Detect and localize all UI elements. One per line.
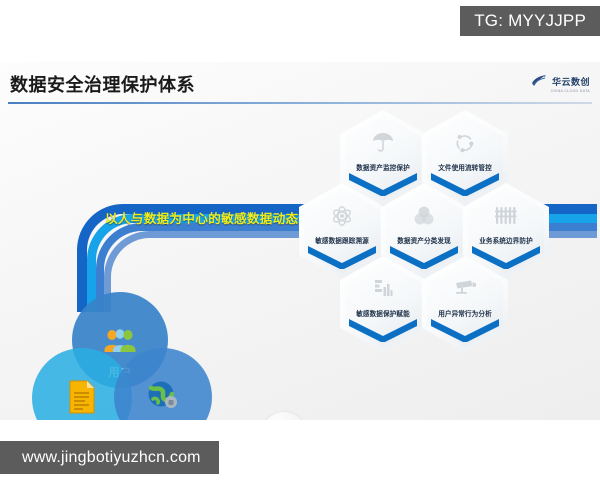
venn-diagram: 用户 数据 <box>26 292 226 420</box>
recycle-flow-icon <box>422 132 508 153</box>
atom-icon <box>299 205 385 227</box>
hex-chevron <box>347 316 419 342</box>
watermark-bottom: www.jingbotiyuzhcn.com <box>0 441 219 474</box>
page-title: 数据安全治理保护体系 <box>10 71 195 97</box>
users-icon <box>103 328 137 359</box>
brand-logo: 华云数创 <box>531 74 590 88</box>
fence-icon <box>463 205 549 225</box>
screenshot-root: TG: MYYJJPP 数据安全治理保护体系 华云数创 CHINA CLOUD … <box>0 0 600 480</box>
logo-mark-icon <box>531 74 549 88</box>
slide-canvas: 数据安全治理保护体系 华云数创 CHINA CLOUD DATA 以人与 <box>0 62 600 420</box>
venn-circles-icon <box>381 205 467 227</box>
chart-bar-icon <box>340 278 426 298</box>
header-divider <box>8 102 592 104</box>
hex-chevron <box>429 316 501 342</box>
watermark-top-text: TG: MYYJJPP <box>474 11 586 31</box>
slide-header: 数据安全治理保护体系 华云数创 CHINA CLOUD DATA <box>0 62 600 104</box>
cctv-camera-icon <box>422 278 508 298</box>
logo-subtext: CHINA CLOUD DATA <box>551 89 590 93</box>
logo-text: 华云数创 <box>552 75 590 88</box>
umbrella-icon <box>340 132 426 152</box>
document-icon <box>68 380 96 419</box>
watermark-top: TG: MYYJJPP <box>460 6 600 36</box>
watermark-bottom-text: www.jingbotiyuzhcn.com <box>22 449 201 467</box>
solution-badge <box>262 412 306 420</box>
globe-lock-icon <box>146 380 180 417</box>
hexagon-grid: 数据资产监控保护 <box>286 110 576 370</box>
shield-eye-icon <box>273 420 295 421</box>
